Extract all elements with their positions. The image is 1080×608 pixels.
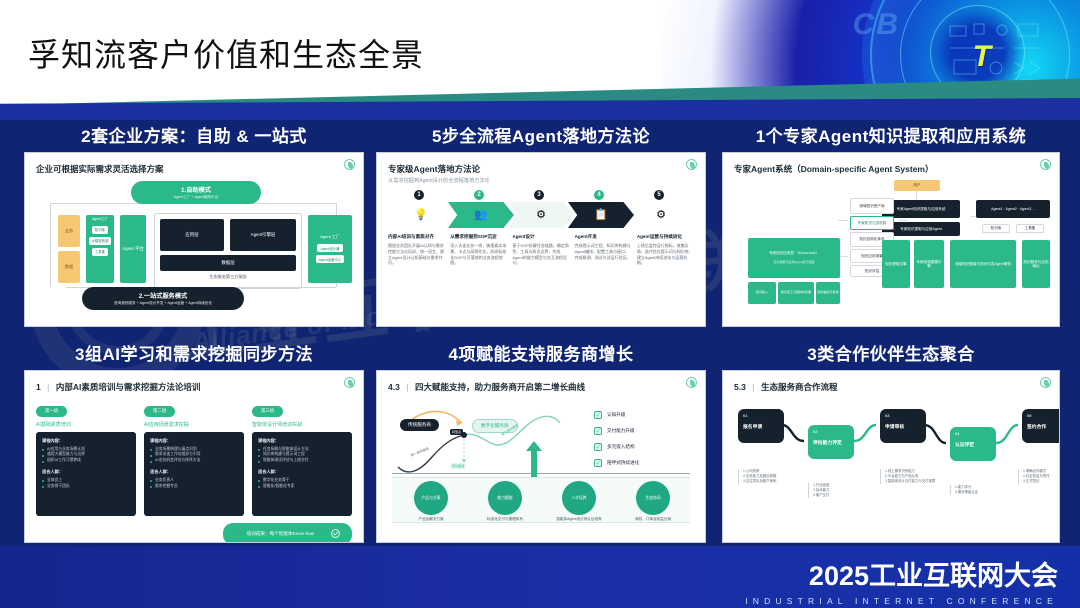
- process-step-1[interactable]: 01 报名申请: [738, 409, 784, 443]
- page-title: 孚知流客户价值和生态全景: [28, 30, 424, 76]
- group-3-audience: 数字化业务骨干 智能化/智能化专家: [258, 478, 346, 490]
- panel-knowhow-layer: 专家知识应用层 （Know-how） 知识提取与应用Agent运行底座: [748, 238, 840, 278]
- check-icon: ✓: [594, 411, 602, 419]
- right-agent-factory: Agent 工厂 Agent设计器 Agent运营中心: [308, 215, 352, 283]
- agent-factory-stack: Agent工厂 知识库 大模型底座 工具集: [86, 215, 114, 283]
- process-detail-3: 1.线上需求识别能力 2.平台能力与产品认知 3.智能体设计交付能力与交付保障: [880, 469, 938, 484]
- card-5-diagram: 传统服务商 数字化服务商 转型点 增长瓶颈 第一增长曲线 第二增长曲线 ✓ 认知…: [388, 397, 694, 525]
- method-column-3-title: Agent设计: [512, 234, 569, 240]
- right-chip-operations: Agent运营中心: [316, 255, 344, 263]
- methodology-detail-columns: 内部AI培训与素质对齐 围绕业务团队开展AI认知与需求挖掘方法论培训，统一语言、…: [388, 234, 694, 266]
- group-2-tag: 第二组: [144, 406, 175, 417]
- group-3-tag: 第三组: [252, 406, 283, 417]
- training-groups: 第一组 AI基础素质培训 课程内容： AI应用与业务场景认知 通用大模型能力与边…: [36, 399, 352, 516]
- process-detail-2: 1.行业经验 2.技术能力 3.客户交付: [808, 483, 866, 498]
- group-3-item: 智能体测试评估与上线交付: [258, 458, 346, 464]
- method-column-1: 内部AI培训与素质对齐 围绕业务团队开展AI认知与需求挖掘方法论培训，统一语言、…: [388, 234, 445, 266]
- people-icon: 👥: [474, 210, 488, 221]
- process-detail-1: 1.公司资质 2.业务能力及团队规模 3.过往项目及客户案例: [738, 469, 796, 484]
- column-extraction-engine: 知识提取引擎: [882, 240, 910, 288]
- check-icon: ✓: [594, 443, 602, 451]
- group-2-item: AI业务机会评估与排序方法: [150, 458, 238, 464]
- group-3-content: 课程内容： 任务拆解与智能体设计方法 知识库构建与提示词工程 智能体测试评估与上…: [252, 432, 352, 516]
- slide-footer: 2025工业互联网大会 INDUSTRIAL INTERNET CONFEREN…: [0, 546, 1080, 608]
- right-chip-designer: Agent设计器: [317, 244, 342, 252]
- training-outcome-badge[interactable]: 培训成果：每个智能体Know-how: [36, 522, 352, 544]
- node-agent-list: Agent1 · Agent2 · Agent3…: [976, 200, 1050, 218]
- content-grid: 2套企业方案：自助 & 一站式 企业可根据实际需求灵活选择方案 1.自助模式 A…: [0, 118, 1080, 548]
- conference-logo-en: INDUSTRIAL INTERNET CONFERENCE: [745, 596, 1058, 606]
- method-column-2-body: 深入访谈业务一线，梳理真实场景、卡点与高频任务，形成标准化SOP与可落地的业务流…: [450, 243, 507, 266]
- stack-asset-library: 领域知识资产库: [850, 198, 894, 214]
- group-1-subtitle: AI基础素质培训: [36, 421, 136, 428]
- mode-self-service-name: 1.自助模式: [131, 185, 261, 194]
- inner-box-application: 应用层: [160, 219, 224, 251]
- card-4-title: 内部AI素质培训与需求挖掘方法论培训: [56, 382, 201, 392]
- step-chevron-4[interactable]: 📋: [568, 202, 634, 228]
- panel-knowhow-sub: 知识提取与应用Agent运行底座: [774, 261, 815, 265]
- group-1-content: 课程内容： AI应用与业务场景认知 通用大模型能力与边界 组织AI工作习惯养成 …: [36, 432, 136, 516]
- cell-6: 3类合作伙伴生态聚合 5.3 | 生态服务商合作流程: [722, 340, 1060, 543]
- step-number-2: 2: [474, 190, 484, 200]
- node-user: 用户: [894, 180, 940, 191]
- process-step-3-num: 03: [885, 413, 921, 418]
- check-icon: ✓: [594, 427, 602, 435]
- agent-factory-label: Agent工厂: [92, 217, 109, 222]
- factory-chip-model: 大模型底座: [89, 237, 112, 245]
- card-3-title: 专家Agent系统（Domain-specific Agent System）: [734, 163, 1048, 175]
- card-6-diagram: 01 报名申请 02 评估能力评定 03 申请审核 04 认证评定: [734, 397, 1048, 525]
- card-5-title-num: 4.3: [388, 382, 400, 392]
- card-6-title: 生态服务商合作流程: [761, 382, 838, 392]
- leaf-icon: [686, 159, 697, 170]
- cell-4: 3组AI学习和需求挖掘同步方法 1 | 内部AI素质培训与需求挖掘方法论培训 第…: [24, 340, 364, 543]
- process-step-5[interactable]: 05 签约合作: [1022, 409, 1060, 443]
- card-6-title-num: 5.3: [734, 382, 746, 392]
- process-step-5-num: 05: [1027, 413, 1060, 418]
- chip-toolset: 工具集: [1016, 224, 1044, 233]
- bottom-box-processing: 知识加工与结构化处理: [778, 282, 814, 304]
- training-group-1: 第一组 AI基础素质培训 课程内容： AI应用与业务场景认知 通用大模型能力与边…: [36, 399, 136, 516]
- card-growth-curve[interactable]: 4.3 | 四大赋能支持，助力服务商开启第二增长曲线: [376, 370, 706, 543]
- inner-box-agent-engine: Agent引擎层: [230, 219, 296, 251]
- enablement-circle-4: 生态协同: [636, 481, 670, 515]
- cell-4-heading: 3组AI学习和需求挖掘同步方法: [24, 340, 364, 365]
- card-4-title-num: 1: [36, 382, 41, 392]
- factory-chip-knowledge: 知识库: [92, 226, 108, 234]
- enablement-circle-1: 产品与方案: [414, 481, 448, 515]
- group-1-tag: 第一组: [36, 406, 67, 417]
- title-separator: |: [752, 382, 754, 392]
- leaf-icon: [1040, 377, 1051, 388]
- leaf-icon: [1040, 159, 1051, 170]
- step-number-1: 1: [414, 190, 424, 200]
- card-1-title: 企业可根据实际需求灵活选择方案: [36, 163, 352, 175]
- card-5-title: 四大赋能支持，助力服务商开启第二增长曲线: [415, 382, 585, 392]
- process-step-2[interactable]: 02 评估能力评定: [808, 425, 854, 459]
- process-step-1-name: 报名申请: [743, 425, 762, 430]
- methodology-step-chevrons: 💡 👥 ⚙ 📋 ⚙ 1 2 3 4 5: [388, 192, 694, 228]
- label-traditional-provider: 传统服务商: [400, 419, 439, 431]
- cell-1: 2套企业方案：自助 & 一站式 企业可根据实际需求灵活选择方案 1.自助模式 A…: [24, 122, 364, 327]
- stack-sedimentation: 专家知识沉淀机制: [850, 216, 894, 230]
- group-2-aud-title: 适合人群：: [150, 469, 238, 475]
- step-chevron-3[interactable]: ⚙: [508, 202, 574, 228]
- process-step-3-name: 申请审核: [885, 425, 904, 430]
- benefit-item-2: ✓ 交付能力升级: [594, 427, 635, 435]
- method-column-3-body: 基于SOP拆解任务链路、确定角色、工具与知识边界，完成Agent的能力模型与交互…: [512, 243, 569, 266]
- step-chevron-1[interactable]: 💡: [388, 202, 454, 228]
- diagram-line: [916, 190, 917, 200]
- step-chevron-2[interactable]: 👥: [448, 202, 514, 228]
- method-column-2: 从需求挖掘到SOP沉淀 深入访谈业务一线，梳理真实场景、卡点与高频任务，形成标准…: [450, 234, 507, 266]
- method-column-3: Agent设计 基于SOP拆解任务链路、确定角色、工具与知识边界，完成Agent…: [512, 234, 569, 266]
- process-detail-5: 1.明确合作模式 2.约定权益与责任 3.正式签约: [1018, 469, 1060, 484]
- card-4-title-row: 1 | 内部AI素质培训与需求挖掘方法论培训: [36, 381, 352, 393]
- method-column-1-title: 内部AI培训与素质对齐: [388, 234, 445, 240]
- conference-logo-cn: 2025工业互联网大会: [745, 554, 1058, 593]
- factory-chip-tools: 工具集: [92, 248, 108, 256]
- input-box-data: 数据: [58, 251, 80, 283]
- card-5-title-row: 4.3 | 四大赋能支持，助力服务商开启第二增长曲线: [388, 381, 694, 393]
- process-step-4-num: 04: [955, 431, 991, 436]
- method-column-2-title: 从需求挖掘到SOP沉淀: [450, 234, 507, 240]
- presentation-slide: CB T 孚知流客户价值和生态全景 工业互联网产业联盟 Allianc: [0, 0, 1080, 608]
- card-agent-methodology[interactable]: 专家级Agent落地方法论 从需求挖掘到Agent设计的全流程落地方法论 💡 👥…: [376, 152, 706, 327]
- step-number-4: 4: [594, 190, 604, 200]
- cell-3-heading: 1个专家Agent知识提取和应用系统: [722, 122, 1060, 147]
- mode-self-service-desc: Agent工厂 + Agent使用平台: [131, 195, 261, 200]
- growth-curve-chart: [392, 405, 582, 481]
- training-group-2: 第二组 AI应用场景需求挖掘 课程内容： 业务场景梳理与痛点识别 需求访谈工作坊…: [144, 399, 244, 516]
- enablement-caption-3: 智能体Agent设计师认证培养: [549, 517, 609, 522]
- column-kg-service: 领域知识图谱与知识问答Agent服务: [950, 240, 1016, 288]
- group-3-aud-title: 适合人群：: [258, 469, 346, 475]
- benefit-label-4: 陪伴式持续进化: [607, 460, 639, 466]
- process-step-4[interactable]: 04 认证评定: [950, 427, 996, 461]
- step-chevron-5[interactable]: ⚙: [628, 202, 694, 228]
- settings-icon: ⚙: [656, 210, 666, 221]
- process-step-5-name: 签约合作: [1027, 425, 1046, 430]
- enablement-caption-2: 标准化交付与管理体系: [475, 517, 535, 522]
- inner-caption: 生态服务第三方服务: [160, 274, 296, 280]
- method-column-4: Agent开发 完成提示词工程、知识库构建与Agent编排，配置工具与接口，完成…: [575, 234, 632, 266]
- diagram-line: [838, 220, 848, 221]
- input-box-business: 业务: [58, 215, 80, 247]
- step-number-3: 3: [534, 190, 544, 200]
- lightbulb-icon: 💡: [414, 210, 428, 221]
- group-1-aud-title: 适合人群：: [42, 469, 130, 475]
- process-step-3[interactable]: 03 申请审核: [880, 409, 926, 443]
- check-circle-icon: [331, 529, 340, 538]
- label-growth-bottleneck: 增长瓶颈: [450, 463, 466, 469]
- enablement-circle-2: 能力赋能: [488, 481, 522, 515]
- group-1-item: 组织AI工作习惯养成: [42, 458, 130, 464]
- process-detail-4: 1.能力评分 2.服务等级认定: [950, 485, 1008, 495]
- column-modeling-engine: 专家经验建模引擎: [914, 240, 944, 288]
- title-separator: |: [406, 382, 408, 392]
- group-3-body-title: 课程内容：: [258, 438, 346, 444]
- card-2-subtitle: 从需求挖掘到Agent设计的全流程落地方法论: [388, 177, 694, 184]
- group-2-aud-item: 需求挖掘专员: [150, 484, 238, 490]
- diagram-line: [50, 203, 51, 287]
- card-expert-agent-system[interactable]: 专家Agent系统（Domain-specific Agent System） …: [722, 152, 1060, 327]
- check-icon: ✓: [594, 459, 602, 467]
- card-1-diagram: 1.自助模式 Agent工厂 + Agent使用平台 业务 数据 Agent工厂…: [36, 179, 352, 307]
- card-6-title-row: 5.3 | 生态服务商合作流程: [734, 381, 1048, 393]
- benefit-label-2: 交付能力升级: [607, 428, 635, 434]
- conference-logo: 2025工业互联网大会 INDUSTRIAL INTERNET CONFEREN…: [745, 554, 1058, 606]
- method-column-5-body: 上线后监控运行指标，收集反馈，迭代优化提示词与知识库，建立Agent持续进化与运…: [637, 243, 694, 266]
- upward-arrow-icon: [526, 441, 542, 477]
- inner-box-data-layer: 数据层: [160, 255, 296, 271]
- training-outcome-label: 培训成果：每个智能体Know-how: [235, 527, 326, 541]
- benefit-item-3: ✓ 多元嵌入结构: [594, 443, 635, 451]
- leaf-icon: [344, 159, 355, 170]
- group-2-subtitle: AI应用场景需求挖掘: [144, 421, 244, 428]
- group-2-items: 业务场景梳理与痛点识别 需求访谈工作坊组织与引导 AI业务机会评估与排序方法: [150, 447, 238, 465]
- bottom-box-input: 知识输入: [748, 282, 776, 304]
- leaf-icon: [344, 377, 355, 388]
- method-column-4-body: 完成提示词工程、知识库构建与Agent编排，配置工具与接口，完成联调、测试与试运…: [575, 243, 632, 260]
- card-2-title: 专家级Agent落地方法论: [388, 163, 694, 175]
- method-column-1-body: 围绕业务团队开展AI认知与需求挖掘方法论培训，统一语言、建立Agent设计认知基…: [388, 243, 445, 266]
- benefit-label-1: 认知升级: [607, 412, 625, 418]
- leaf-icon: [686, 377, 697, 388]
- group-3-subtitle: 智能体设计师培训实战: [252, 421, 352, 428]
- training-group-3: 第三组 智能体设计师培训实战 课程内容： 任务拆解与智能体设计方法 知识库构建与…: [252, 399, 352, 516]
- cell-2-heading: 5步全流程Agent落地方法论: [376, 122, 706, 147]
- enablement-caption-4: 商机、订单及收益分润: [623, 517, 683, 522]
- method-column-5-title: Agent运营与持续进化: [637, 234, 694, 240]
- process-step-2-name: 评估能力评定: [813, 441, 842, 446]
- process-step-4-name: 认证评定: [955, 443, 974, 448]
- mode-one-stop-desc: 咨询规划服务 + Agent设计开发 + Agent运营 + Agent持续优化: [82, 301, 244, 306]
- cell-2: 5步全流程Agent落地方法论 专家级Agent落地方法论 从需求挖掘到Agen…: [376, 122, 706, 327]
- group-2-audience: 业务负责人 需求挖掘专员: [150, 478, 238, 490]
- group-1-body-title: 课程内容：: [42, 438, 130, 444]
- enablement-caption-1: 产品及解决方案: [401, 517, 461, 522]
- group-3-items: 任务拆解与智能体设计方法 知识库构建与提示词工程 智能体测试评估与上线交付: [258, 447, 346, 465]
- process-step-1-num: 01: [743, 413, 779, 418]
- cell-3: 1个专家Agent知识提取和应用系统 专家Agent系统（Domain-spec…: [722, 122, 1060, 327]
- bottom-box-output: 知识输出与复用: [816, 282, 840, 304]
- title-separator: |: [47, 382, 49, 392]
- group-2-body-title: 课程内容：: [150, 438, 238, 444]
- label-transition-point: 转型点: [450, 429, 463, 435]
- card-3-diagram: 用户 专家Agent知识提取与应用系统 专家知识提取与应用Agent Agent…: [734, 178, 1048, 306]
- mode-one-stop-name: 2.一站式服务模式: [82, 291, 244, 300]
- column-knowledge-output: 知识服务与应用输出: [1022, 240, 1050, 288]
- group-1-aud-item: 业务骨干团队: [42, 484, 130, 490]
- right-agent-factory-title: Agent 工厂: [320, 234, 340, 240]
- benefit-item-1: ✓ 认知升级: [594, 411, 625, 419]
- benefit-label-3: 多元嵌入结构: [607, 444, 635, 450]
- card-ai-training[interactable]: 1 | 内部AI素质培训与需求挖掘方法论培训 第一组 AI基础素质培训 课程内容…: [24, 370, 364, 543]
- cell-5-heading: 4项赋能支持服务商增长: [376, 340, 706, 365]
- agent-platform-pillar: Agent 平台: [120, 215, 146, 283]
- enablement-circle-3: 人才培养: [562, 481, 596, 515]
- card-enterprise-solutions[interactable]: 企业可根据实际需求灵活选择方案 1.自助模式 Agent工厂 + Agent使用…: [24, 152, 364, 327]
- method-column-4-title: Agent开发: [575, 234, 632, 240]
- group-1-items: AI应用与业务场景认知 通用大模型能力与边界 组织AI工作习惯养成: [42, 447, 130, 465]
- chip-knowledge-base: 知识库: [982, 224, 1010, 233]
- process-step-2-num: 02: [813, 429, 849, 434]
- diagram-line: [898, 220, 908, 221]
- panel-knowhow-title: 专家知识应用层 （Know-how）: [769, 251, 819, 255]
- group-3-aud-item: 智能化/智能化专家: [258, 484, 346, 490]
- card-partner-process[interactable]: 5.3 | 生态服务商合作流程 01 报名申请: [722, 370, 1060, 543]
- group-2-content: 课程内容： 业务场景梳理与痛点识别 需求访谈工作坊组织与引导 AI业务机会评估与…: [144, 432, 244, 516]
- cell-5: 4项赋能支持服务商增长 4.3 | 四大赋能支持，助力服务商开启第二增长曲线: [376, 340, 706, 543]
- benefit-item-4: ✓ 陪伴式持续进化: [594, 459, 639, 467]
- document-icon: 📋: [594, 210, 608, 221]
- cell-1-heading: 2套企业方案：自助 & 一站式: [24, 122, 364, 147]
- group-1-audience: 全体员工 业务骨干团队: [42, 478, 130, 490]
- cell-6-heading: 3类合作伙伴生态聚合: [722, 340, 1060, 365]
- method-column-5: Agent运营与持续进化 上线后监控运行指标，收集反馈，迭代优化提示词与知识库，…: [637, 234, 694, 266]
- mode-one-stop-pill[interactable]: 2.一站式服务模式 咨询规划服务 + Agent设计开发 + Agent运营 +…: [82, 287, 244, 310]
- mode-self-service-pill[interactable]: 1.自助模式 Agent工厂 + Agent使用平台: [131, 181, 261, 204]
- step-number-5: 5: [654, 190, 664, 200]
- gear-group-icon: ⚙: [536, 210, 546, 221]
